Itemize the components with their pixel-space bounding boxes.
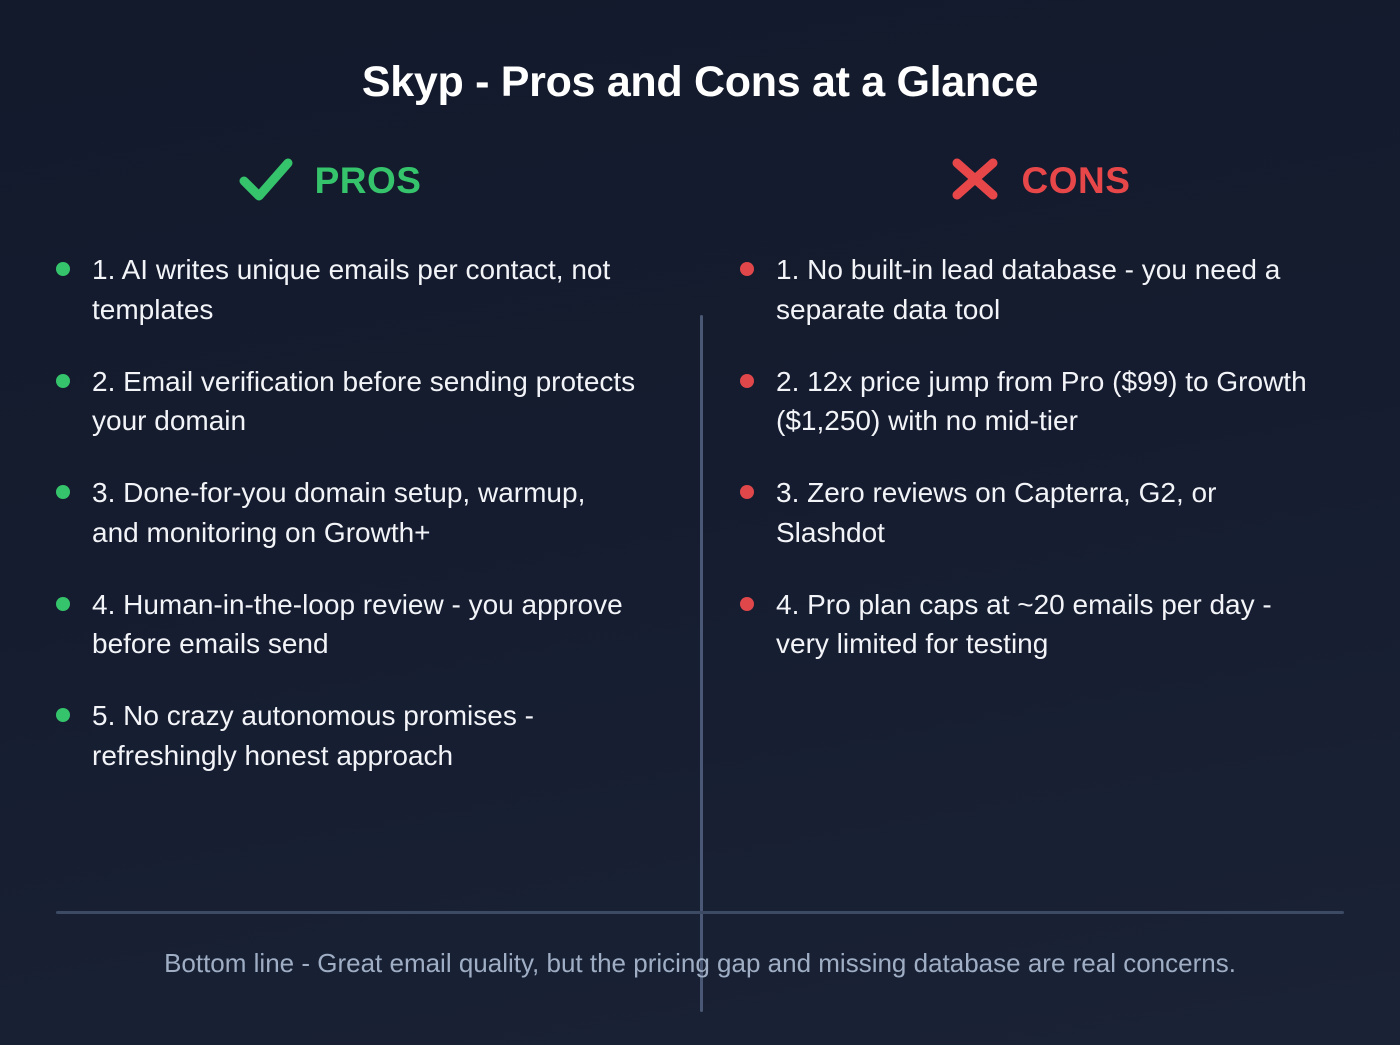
pros-item-text: 1. AI writes unique emails per contact, …: [92, 250, 637, 330]
list-item: 2. 12x price jump from Pro ($99) to Grow…: [740, 362, 1360, 442]
list-item: 4. Human-in-the-loop review - you approv…: [56, 585, 660, 665]
comparison-columns: PROS 1. AI writes unique emails per cont…: [0, 150, 1400, 865]
bullet-icon: [740, 262, 754, 276]
cons-list: 1. No built-in lead database - you need …: [740, 250, 1360, 664]
pros-list: 1. AI writes unique emails per contact, …: [56, 250, 660, 776]
page-title: Skyp - Pros and Cons at a Glance: [0, 58, 1400, 107]
bullet-icon: [56, 262, 70, 276]
footer-divider: [56, 911, 1344, 914]
bullet-icon: [740, 485, 754, 499]
x-icon: [950, 156, 1000, 207]
bullet-icon: [56, 597, 70, 611]
cons-column: CONS 1. No built-in lead database - you …: [700, 150, 1400, 865]
list-item: 3. Done-for-you domain setup, warmup, an…: [56, 473, 660, 553]
pros-item-text: 3. Done-for-you domain setup, warmup, an…: [92, 473, 637, 553]
list-item: 5. No crazy autonomous promises - refres…: [56, 696, 660, 776]
bullet-icon: [56, 374, 70, 388]
list-item: 1. AI writes unique emails per contact, …: [56, 250, 660, 330]
bullet-icon: [56, 485, 70, 499]
cons-item-text: 4. Pro plan caps at ~20 emails per day -…: [776, 585, 1321, 665]
cons-item-text: 1. No built-in lead database - you need …: [776, 250, 1321, 330]
bullet-icon: [56, 708, 70, 722]
bullet-icon: [740, 374, 754, 388]
pros-item-text: 5. No crazy autonomous promises - refres…: [92, 696, 637, 776]
bottom-line-text: Bottom line - Great email quality, but t…: [0, 948, 1400, 979]
list-item: 2. Email verification before sending pro…: [56, 362, 660, 442]
pros-cons-card: Skyp - Pros and Cons at a Glance PROS 1.…: [0, 0, 1400, 1045]
check-icon: [239, 156, 293, 207]
cons-item-text: 3. Zero reviews on Capterra, G2, or Slas…: [776, 473, 1321, 553]
cons-label: CONS: [1022, 160, 1131, 202]
cons-header: CONS: [740, 150, 1360, 212]
pros-column: PROS 1. AI writes unique emails per cont…: [0, 150, 700, 865]
pros-item-text: 4. Human-in-the-loop review - you approv…: [92, 585, 637, 665]
list-item: 1. No built-in lead database - you need …: [740, 250, 1360, 330]
cons-item-text: 2. 12x price jump from Pro ($99) to Grow…: [776, 362, 1321, 442]
column-divider: [700, 315, 703, 1012]
list-item: 3. Zero reviews on Capterra, G2, or Slas…: [740, 473, 1360, 553]
pros-label: PROS: [315, 160, 422, 202]
bullet-icon: [740, 597, 754, 611]
pros-item-text: 2. Email verification before sending pro…: [92, 362, 637, 442]
pros-header: PROS: [56, 150, 660, 212]
list-item: 4. Pro plan caps at ~20 emails per day -…: [740, 585, 1360, 665]
